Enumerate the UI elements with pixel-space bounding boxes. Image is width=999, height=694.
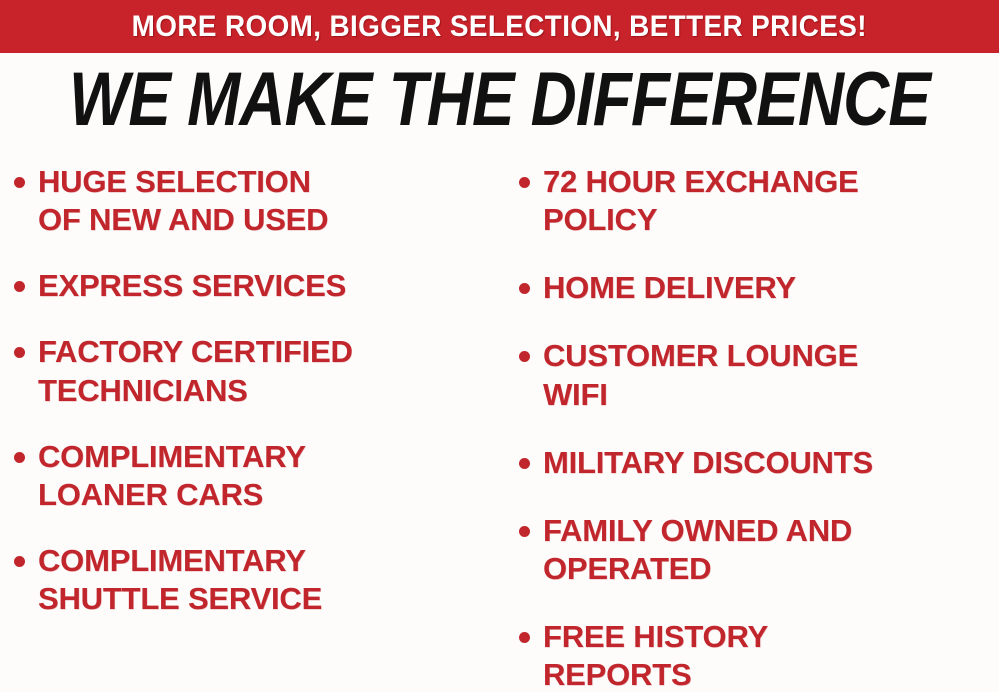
- list-item: CUSTOMER LOUNGE WIFI: [519, 337, 999, 413]
- list-item: HUGE SELECTION OF NEW AND USED: [14, 163, 505, 239]
- list-item-label: FACTORY CERTIFIED TECHNICIANS: [38, 333, 353, 409]
- list-item-label: EXPRESS SERVICES: [38, 267, 346, 305]
- bullet-dot-icon: [519, 632, 530, 643]
- list-item-label: HUGE SELECTION OF NEW AND USED: [38, 163, 328, 239]
- list-item-label: COMPLIMENTARY SHUTTLE SERVICE: [38, 542, 322, 618]
- headline-container: WE MAKE THE DIFFERENCE: [0, 58, 999, 142]
- page-title: WE MAKE THE DIFFERENCE: [69, 62, 930, 138]
- bullet-dot-icon: [519, 526, 530, 537]
- bullet-dot-icon: [14, 177, 25, 188]
- list-item-label: MILITARY DISCOUNTS: [543, 444, 873, 482]
- bullet-dot-icon: [14, 452, 25, 463]
- list-item-label: COMPLIMENTARY LOANER CARS: [38, 438, 306, 514]
- top-banner: MORE ROOM, BIGGER SELECTION, BETTER PRIC…: [0, 0, 999, 53]
- list-item: EXPRESS SERVICES: [14, 267, 505, 305]
- benefits-column-left: HUGE SELECTION OF NEW AND USED EXPRESS S…: [0, 150, 505, 692]
- list-item: FACTORY CERTIFIED TECHNICIANS: [14, 333, 505, 409]
- list-item-label: CUSTOMER LOUNGE WIFI: [543, 337, 858, 413]
- list-item: 72 HOUR EXCHANGE POLICY: [519, 163, 999, 239]
- bullet-dot-icon: [14, 347, 25, 358]
- list-item: COMPLIMENTARY SHUTTLE SERVICE: [14, 542, 505, 618]
- promo-banner-page: MORE ROOM, BIGGER SELECTION, BETTER PRIC…: [0, 0, 999, 692]
- bullet-dot-icon: [519, 177, 530, 188]
- list-item: COMPLIMENTARY LOANER CARS: [14, 438, 505, 514]
- list-item: FREE HISTORY REPORTS: [519, 618, 999, 694]
- benefits-column-right: 72 HOUR EXCHANGE POLICY HOME DELIVERY CU…: [505, 150, 999, 692]
- list-item-label: FAMILY OWNED AND OPERATED: [543, 512, 852, 588]
- list-item: FAMILY OWNED AND OPERATED: [519, 512, 999, 588]
- bullet-dot-icon: [14, 281, 25, 292]
- list-item-label: HOME DELIVERY: [543, 269, 796, 307]
- benefits-columns: HUGE SELECTION OF NEW AND USED EXPRESS S…: [0, 150, 999, 692]
- bullet-dot-icon: [519, 283, 530, 294]
- list-item: MILITARY DISCOUNTS: [519, 444, 999, 482]
- list-item-label: FREE HISTORY REPORTS: [543, 618, 768, 694]
- top-banner-text: MORE ROOM, BIGGER SELECTION, BETTER PRIC…: [132, 12, 867, 42]
- bullet-dot-icon: [519, 458, 530, 469]
- bullet-dot-icon: [519, 351, 530, 362]
- list-item-label: 72 HOUR EXCHANGE POLICY: [543, 163, 858, 239]
- bullet-dot-icon: [14, 556, 25, 567]
- list-item: HOME DELIVERY: [519, 269, 999, 307]
